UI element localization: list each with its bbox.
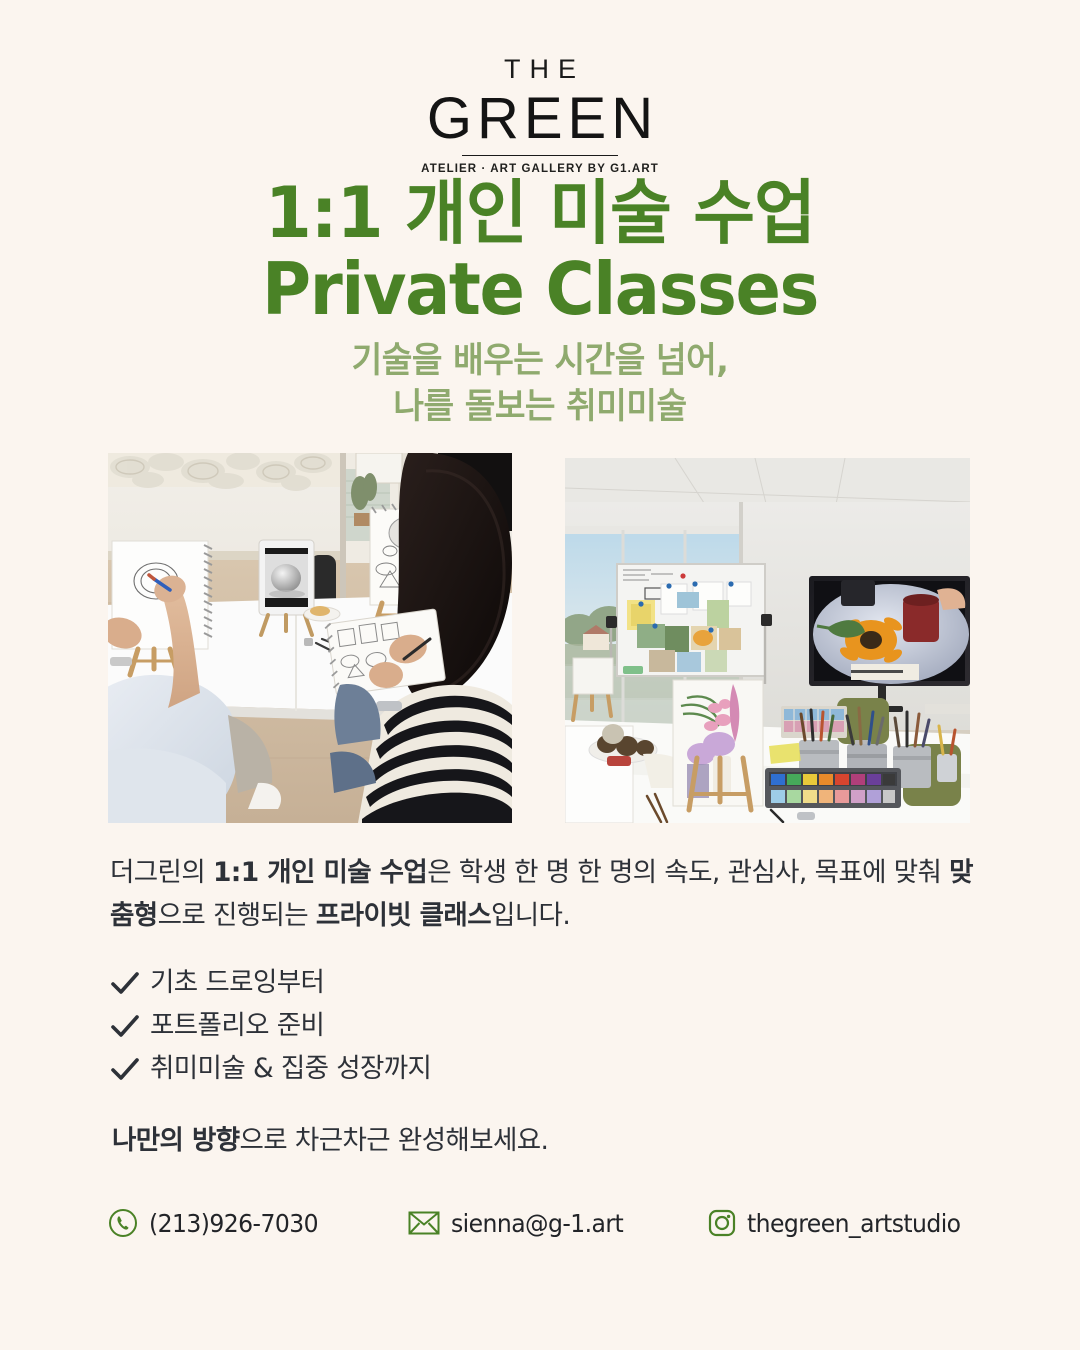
- contact-instagram[interactable]: thegreen_artstudio: [708, 1209, 988, 1237]
- instagram-icon[interactable]: [708, 1209, 736, 1237]
- intro-segment-5: 으로 진행되는: [158, 900, 316, 931]
- list-item-label: 취미미술 & 집중 성장까지: [150, 1056, 431, 1083]
- intro-segment-7: 입니다.: [491, 900, 570, 931]
- feature-list: 기초 드로잉부터 포트폴리오 준비 취미미술 & 집중 성장까지: [110, 962, 810, 1091]
- contact-phone[interactable]: (213)926-7030: [108, 1208, 408, 1238]
- photo-students-drawing-graphic: [108, 453, 512, 823]
- intro-segment-1: 더그린의: [110, 857, 213, 888]
- intro-segment-3: 은 학생 한 명 한 명의 속도, 관심사, 목표에 맞춰: [427, 857, 949, 888]
- logo-green-text: GREEN: [0, 88, 1080, 151]
- closing-segment-2: 으로 차근차근 완성해보세요.: [240, 1125, 549, 1156]
- list-item: 포트폴리오 준비: [110, 1005, 810, 1048]
- logo-the-text: THE: [0, 56, 1080, 83]
- brand-logo: THE GREEN ATELIER · ART GALLERY BY G1.AR…: [0, 56, 1080, 175]
- instagram-handle: thegreen_artstudio: [747, 1211, 960, 1236]
- headline-korean: 1:1 개인 미술 수업: [22, 178, 1059, 249]
- intro-segment-6: 프라이빗 클래스: [316, 900, 491, 931]
- logo-divider: [462, 155, 618, 157]
- check-icon: [110, 971, 150, 997]
- subheadline-line-2: 나를 돌보는 취미미술: [27, 384, 1053, 430]
- check-icon: [110, 1014, 150, 1040]
- list-item: 기초 드로잉부터: [110, 962, 810, 1005]
- list-item-label: 포트폴리오 준비: [150, 1013, 324, 1040]
- list-item: 취미미술 & 집중 성장까지: [110, 1048, 810, 1091]
- closing-segment-1: 나만의 방향: [112, 1125, 240, 1156]
- phone-icon[interactable]: [108, 1208, 138, 1238]
- subheadline: 기술을 배우는 시간을 넘어, 나를 돌보는 취미미술: [27, 338, 1053, 430]
- headline-english: Private Classes: [38, 253, 1042, 325]
- subheadline-line-1: 기술을 배우는 시간을 넘어,: [27, 338, 1053, 384]
- photo-art-studio-graphic: [565, 458, 970, 823]
- closing-line: 나만의 방향으로 차근차근 완성해보세요.: [112, 1118, 548, 1157]
- phone-number: (213)926-7030: [149, 1211, 318, 1236]
- poster-root: { "theme": { "background": "#fbf5ef", "b…: [0, 0, 1080, 1350]
- contact-bar: (213)926-7030 sienna@g-1.art thegreen_ar…: [108, 1208, 988, 1238]
- envelope-icon[interactable]: [408, 1210, 440, 1236]
- check-icon: [110, 1057, 150, 1083]
- contact-email[interactable]: sienna@g-1.art: [408, 1210, 708, 1236]
- photo-students-drawing: [108, 453, 512, 823]
- email-address: sienna@g-1.art: [451, 1211, 623, 1236]
- photo-art-studio: [565, 458, 970, 823]
- list-item-label: 기초 드로잉부터: [150, 970, 324, 997]
- page-title: 1:1 개인 미술 수업 Private Classes: [0, 178, 1080, 325]
- intro-segment-2: 1:1 개인 미술 수업: [213, 857, 427, 888]
- intro-paragraph: 더그린의 1:1 개인 미술 수업은 학생 한 명 한 명의 속도, 관심사, …: [110, 852, 990, 938]
